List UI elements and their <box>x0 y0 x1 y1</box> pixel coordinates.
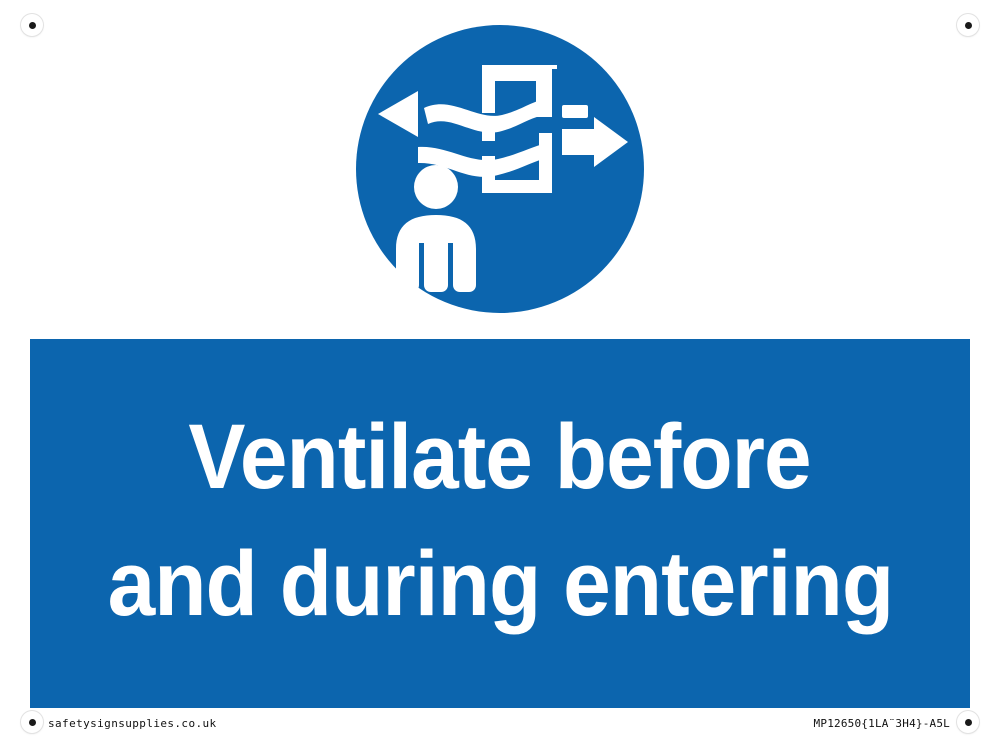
product-code: MP12650{1LA¨3H4}-A5L <box>814 717 950 730</box>
banner-line-2: and during entering <box>107 521 893 648</box>
message-banner: Ventilate before and during entering <box>30 339 970 708</box>
mounting-hole-top-left <box>21 14 43 36</box>
mounting-hole-top-right <box>957 14 979 36</box>
door-right-stile-lower <box>539 133 552 193</box>
person-body <box>396 215 476 292</box>
mounting-hole-bottom-right <box>957 711 979 733</box>
safety-sign-plate: Ventilate before and during entering saf… <box>0 0 1000 749</box>
arrow-dash <box>562 105 588 118</box>
mounting-hole-bottom-left <box>21 711 43 733</box>
footer: safetysignsupplies.co.uk MP12650{1LA¨3H4… <box>0 715 1000 739</box>
website-url: safetysignsupplies.co.uk <box>48 717 217 730</box>
banner-line-1: Ventilate before <box>189 394 811 521</box>
ventilate-before-entering-pictogram <box>356 25 644 313</box>
person-head <box>414 165 458 209</box>
door-left-stile-upper <box>482 65 495 113</box>
